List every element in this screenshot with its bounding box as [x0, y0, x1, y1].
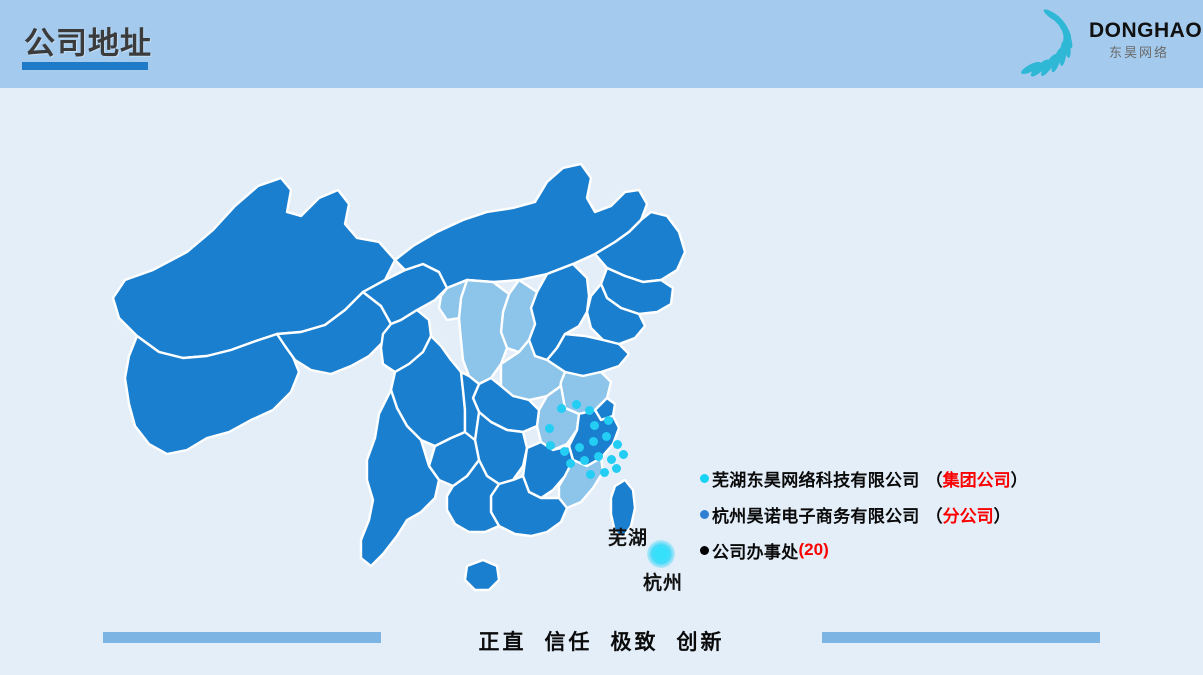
legend-bullet-icon-branch [700, 510, 709, 519]
legend-tag-headquarters: （集团公司） [926, 466, 1028, 491]
slogan-word: 创新 [677, 631, 725, 654]
brand-logo: DONGHAO 东昊网络 [1013, 6, 1189, 80]
office-dot[interactable] [585, 406, 594, 415]
legend-bullet-icon-headquarters [700, 474, 709, 483]
office-dot[interactable] [600, 468, 609, 477]
china-map: 芜湖 杭州 [95, 120, 715, 620]
office-dot[interactable] [612, 464, 621, 473]
legend-label-offices: 公司办事处 [712, 538, 799, 563]
legend-tag-open-paren: （ [926, 471, 943, 490]
office-dot[interactable] [586, 470, 595, 479]
map-legend: 芜湖东昊网络科技有限公司 （集团公司） 杭州昊诺电子商务有限公司 （分公司） 公… [700, 460, 1170, 568]
legend-label-headquarters: 芜湖东昊网络科技有限公司 [712, 466, 920, 491]
office-dot[interactable] [607, 455, 616, 464]
legend-item-branch: 杭州昊诺电子商务有限公司 （分公司） [700, 496, 1170, 532]
office-dot[interactable] [580, 456, 589, 465]
donghao-wing-icon [1017, 8, 1089, 78]
slogan-word: 信任 [545, 631, 593, 654]
slide-company-address: 公司地址 DONGHAO 东昊网络 [0, 0, 1203, 675]
slogan-word: 正直 [479, 631, 527, 654]
legend-item-headquarters: 芜湖东昊网络科技有限公司 （集团公司） [700, 460, 1170, 496]
city-label-hangzhou: 杭州 [643, 568, 683, 595]
office-dot[interactable] [546, 441, 555, 450]
logo-name: DONGHAO [1089, 20, 1189, 41]
office-dot[interactable] [560, 447, 569, 456]
city-label-wuhu: 芜湖 [608, 523, 648, 550]
office-dot[interactable] [613, 440, 622, 449]
legend-tag-close-paren-branch: ） [994, 507, 1011, 526]
office-dot[interactable] [566, 459, 575, 468]
legend-tag-text-branch: 分公司 [943, 507, 994, 526]
legend-tag-close-paren: ） [1011, 471, 1028, 490]
legend-label-branch: 杭州昊诺电子商务有限公司 [712, 502, 920, 527]
province-hainan [465, 560, 499, 590]
legend-count-offices: (20) [799, 540, 829, 560]
title-underline [22, 62, 148, 70]
office-dot[interactable] [545, 424, 554, 433]
slogan-word: 极致 [611, 631, 659, 654]
office-dot[interactable] [589, 437, 598, 446]
company-slogan: 正直信任极致创新 [0, 626, 1203, 656]
legend-bullet-icon-offices [700, 546, 709, 555]
office-dot[interactable] [604, 416, 613, 425]
logo-text: DONGHAO 东昊网络 [1089, 20, 1189, 59]
office-dot[interactable] [594, 452, 603, 461]
legend-item-offices: 公司办事处(20) [700, 532, 1170, 568]
hq-marker-wuhu[interactable] [647, 540, 675, 568]
office-dot[interactable] [575, 443, 584, 452]
office-dot[interactable] [602, 432, 611, 441]
page-title: 公司地址 [24, 18, 152, 63]
legend-tag-open-paren-branch: （ [926, 507, 943, 526]
office-dot[interactable] [590, 421, 599, 430]
office-dot[interactable] [619, 450, 628, 459]
logo-sub: 东昊网络 [1089, 46, 1189, 59]
legend-tag-branch: （分公司） [926, 502, 1011, 527]
legend-tag-text-headquarters: 集团公司 [943, 471, 1011, 490]
office-dot[interactable] [557, 404, 566, 413]
office-dot[interactable] [572, 400, 581, 409]
